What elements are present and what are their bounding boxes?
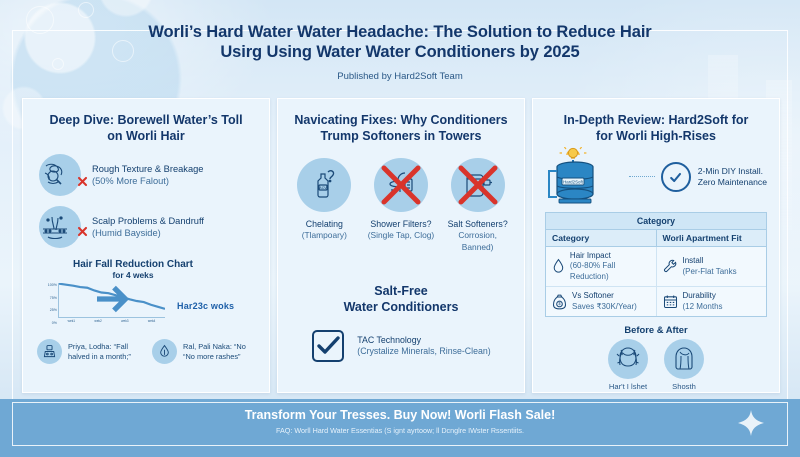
table-cell: $ Vs Softoner Saves ₹30K/Year) [546, 287, 656, 316]
issue-sub: (50% More Falout) [92, 175, 203, 187]
cross-out-mark [374, 158, 428, 212]
solution-heading: Salt-Free Water Conditioners [278, 283, 524, 315]
device-label: Hard2Soft [563, 179, 584, 184]
salt-softener-tank-icon [451, 158, 505, 212]
panel-in-depth-review: In-Depth Review: Hard2Soft for for Worli… [532, 98, 780, 393]
fix-option-caption: Shower Filters? (Single Tap, Clog) [365, 219, 437, 242]
table-cell: Install (Per-Flat Tanks [656, 247, 767, 286]
cross-out-mark [451, 158, 505, 212]
panel-navigating-fixes: Navicating Fixes: Why Conditioners Trump… [277, 98, 525, 393]
table-cell-text: Durability (12 Months [683, 291, 723, 312]
table-cell-title: Hair Impact [570, 251, 650, 261]
before-after-label: Har't I lshet [608, 382, 648, 391]
table-header-cell: Category [546, 230, 656, 246]
page-title: Worli’s Hard Water Water Headache: The S… [0, 22, 800, 62]
install-benefit-text: 2-Min DIY Install. Zero Maintenance [698, 166, 767, 188]
install-benefit-line-2: Zero Maintenance [698, 177, 767, 188]
panel-left-title: Deep Dive: Borewell Water’s Toll on Worl… [37, 112, 255, 144]
person-bottle-icon [37, 339, 62, 364]
table-cell-title: Vs Softoner [572, 291, 637, 301]
y-tick: 0% [52, 321, 57, 325]
sparkle-icon [738, 410, 764, 436]
calendar-icon [663, 294, 678, 309]
before-after-item: Shosth [664, 339, 704, 391]
issue-row: Scalp Problems & Dandruff (Humid Bayside… [39, 206, 253, 248]
svg-text:ACV: ACV [320, 186, 328, 190]
table-row: Hair Impact (60-80% Fall Reduction) Inst… [546, 247, 766, 287]
testimonial-list: Priya, Lodha: “Fall halved in a month;” … [37, 339, 255, 364]
panel-mid-title-line-2: Trump Softoners in Towers [321, 129, 482, 143]
fix-option-title: Chelating [306, 219, 343, 229]
chart-brand-watermark: Har23c woks [177, 301, 234, 311]
table-cell-sub: (Per-Flat Tanks [683, 267, 737, 277]
panel-mid-title-line-1: Navicating Fixes: Why Conditioners [294, 113, 507, 127]
scalp-dandruff-icon [39, 206, 81, 248]
fix-option-caption: Chelating (Tlampoary) [288, 219, 360, 242]
panel-left-title-line-1: Deep Dive: Borewell Water’s Toll [49, 113, 242, 127]
table-cell: Hair Impact (60-80% Fall Reduction) [546, 247, 656, 286]
tac-title: TAC Technology [357, 335, 490, 347]
footer-cta-text[interactable]: Transform Your Tresses. Buy Now! Worli F… [0, 408, 800, 422]
table-cell-text: Install (Per-Flat Tanks [683, 256, 737, 277]
shower-head-icon [374, 158, 428, 212]
panel-left-title-line-2: on Worli Hair [107, 129, 185, 143]
checkbox-check-icon [311, 329, 345, 363]
header: Worli’s Hard Water Water Headache: The S… [0, 22, 800, 82]
fix-option-caption: Salt Softeners? Corrosion, Banned) [442, 219, 514, 253]
hair-fall-reduction-chart: Hair Fall Reduction Chart for 4 weks 100… [37, 259, 255, 325]
testimonial-item: Ral, Pali Naka: “No “No more rashes” [152, 339, 255, 364]
before-after-item: Har't I lshet [608, 339, 648, 391]
x-tick: wek1 [68, 319, 75, 325]
fix-option-sub: (Tlampoary) [288, 230, 360, 241]
tangled-hair-icon [39, 154, 81, 196]
chart-line-plot [58, 283, 165, 318]
table-cell-title: Durability [683, 291, 723, 301]
acv-bottle-question-icon: ACV [297, 158, 351, 212]
check-circle-icon [661, 162, 691, 192]
fix-option-title: Salt Softeners? [448, 219, 508, 229]
testimonial-item: Priya, Lodha: “Fall halved in a month;” [37, 339, 140, 364]
fix-option-sub: Corrosion, Banned) [442, 230, 514, 253]
table-row: $ Vs Softoner Saves ₹30K/Year) Durabilit… [546, 287, 766, 316]
table-header-cell: Worli Apartment Fit [656, 230, 767, 246]
page-title-line-2: Usirg Using Water Water Conditioners by … [220, 43, 579, 61]
chart-arrow-icon [61, 282, 167, 316]
y-tick: 25% [50, 308, 57, 312]
fix-options: ACV Chelating (Tlampoary) [286, 158, 516, 253]
fix-option-salt-softeners: Salt Softeners? Corrosion, Banned) [442, 158, 514, 253]
testimonial-line-1: Ral, Pali Naka: “No [183, 342, 246, 352]
tac-technology-row: TAC Technology (Crystalize Minerals, Rin… [294, 329, 508, 363]
fix-option-title: Shower Filters? [370, 219, 431, 229]
tac-sub: (Crystalize Minerals, Rinse-Clean) [357, 346, 490, 358]
tac-text: TAC Technology (Crystalize Minerals, Rin… [357, 335, 490, 358]
issue-title: Rough Texture & Breakage [92, 163, 203, 175]
panel-right-title: In-Depth Review: Hard2Soft for for Worli… [547, 112, 765, 144]
table-cell-text: Vs Softoner Saves ₹30K/Year) [572, 291, 637, 312]
solution-heading-line-1: Salt-Free [374, 284, 428, 298]
chart-plot-area: 100% 75% 25% 0% wek1 wek2 wek3 [37, 283, 165, 325]
testimonial-line-2: halved in a month;” [68, 352, 131, 362]
table-cell-sub: Saves ₹30K/Year) [572, 302, 637, 312]
money-bag-icon: $ [552, 294, 567, 310]
chart-title-text: Hair Fall Reduction Chart [73, 259, 193, 270]
frizzy-hair-face-icon [608, 339, 648, 379]
hair-strand-icon [552, 258, 565, 275]
connector-dotted-line [629, 176, 655, 178]
table-cell-sub: (60-80% Fall Reduction) [570, 261, 650, 282]
testimonial-line-2: “No more rashes” [183, 352, 246, 362]
fix-option-shower-filters: Shower Filters? (Single Tap, Clog) [365, 158, 437, 253]
panel-right-title-line-1: In-Depth Review: Hard2Soft for [564, 113, 749, 127]
panel-right-title-line-2: for Worli High-Rises [596, 129, 716, 143]
y-tick: 75% [50, 296, 57, 300]
fix-option-chelating: ACV Chelating (Tlampoary) [288, 158, 360, 253]
comparison-table: Category Category Worli Apartment Fit Ha… [545, 212, 767, 317]
water-conditioner-tank-icon: Hard2Soft [545, 147, 623, 207]
table-cell-text: Hair Impact (60-80% Fall Reduction) [570, 251, 650, 282]
x-tick: wek2 [94, 319, 101, 325]
issue-text: Rough Texture & Breakage (50% More Falou… [92, 163, 203, 188]
chart-subtitle: for 4 weks [22, 270, 255, 280]
page-title-line-1: Worli’s Hard Water Water Headache: The S… [148, 23, 651, 41]
panel-deep-dive: Deep Dive: Borewell Water’s Toll on Worl… [22, 98, 270, 393]
chart-y-axis: 100% 75% 25% 0% [37, 283, 57, 325]
table-caption: Category [546, 213, 766, 230]
bubble-decoration-2 [78, 2, 94, 18]
person-drop-icon [152, 339, 177, 364]
before-after-title: Before & After [533, 324, 779, 335]
install-benefit-line-1: 2-Min DIY Install. [698, 166, 767, 177]
y-tick: 100% [48, 283, 57, 287]
issue-row: Rough Texture & Breakage (50% More Falou… [39, 154, 253, 196]
issue-sub: (Humid Bayside) [92, 227, 204, 239]
footer-fine-print: FAQ: Worll Hard Water Essentias (S ignt … [0, 426, 800, 435]
table-cell-sub: (12 Months [683, 302, 723, 312]
table-cell-title: Install [683, 256, 737, 266]
footer-cta-banner[interactable]: Transform Your Tresses. Buy Now! Worli F… [0, 399, 800, 457]
table-header-row: Category Worli Apartment Fit [546, 230, 766, 247]
issue-text: Scalp Problems & Dandruff (Humid Bayside… [92, 215, 204, 240]
chart-title: Hair Fall Reduction Chart for 4 weks [22, 259, 255, 280]
testimonial-text: Priya, Lodha: “Fall halved in a month;” [68, 342, 131, 361]
x-tick: wek3 [121, 319, 128, 325]
panel-mid-title: Navicating Fixes: Why Conditioners Trump… [292, 112, 510, 144]
x-tick: wek4 [148, 319, 155, 325]
before-after-label: Shosth [664, 382, 704, 391]
before-after-gallery: Har't I lshet Shosth [533, 339, 779, 391]
byline: Published by Hard2Soft Team [0, 71, 800, 82]
testimonial-line-1: Priya, Lodha: “Fall [68, 342, 131, 352]
chart-x-axis: wek1 wek2 wek3 wek4 [58, 319, 165, 325]
testimonial-text: Ral, Pali Naka: “No “No more rashes” [183, 342, 246, 361]
table-cell: Durability (12 Months [656, 287, 767, 316]
solution-heading-line-2: Water Conditioners [344, 300, 459, 314]
fix-option-sub: (Single Tap, Clog) [365, 230, 437, 241]
issue-title: Scalp Problems & Dandruff [92, 215, 204, 227]
smooth-hair-face-icon [664, 339, 704, 379]
wrench-icon [663, 259, 678, 274]
device-hero: Hard2Soft 2-Min DIY Install. Zero Mainte… [545, 146, 767, 208]
